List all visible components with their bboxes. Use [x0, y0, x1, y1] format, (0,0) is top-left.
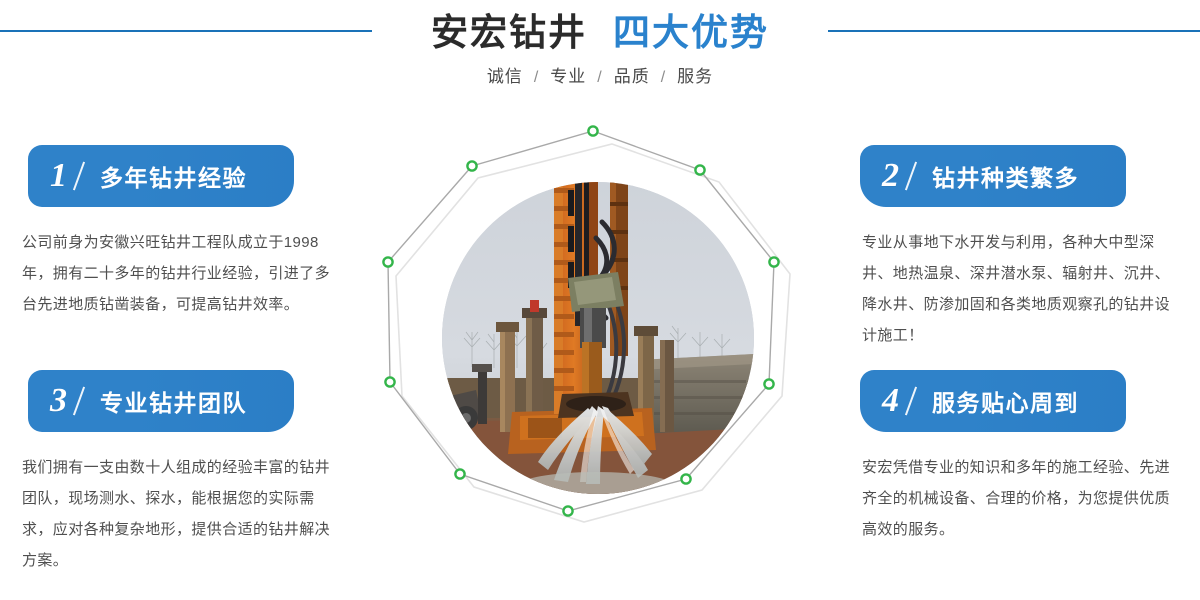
feature-card-3-title: 专业钻井团队 [100, 384, 247, 418]
feature-card-1-badge: 1 多年钻井经验 [28, 145, 294, 207]
feature-card-4-title: 服务贴心周到 [932, 384, 1079, 418]
feature-card-1-title: 多年钻井经验 [100, 159, 247, 193]
feature-card-2-number: 2 [882, 159, 899, 193]
subtitle-separator: / [597, 69, 602, 86]
page-title: 安宏钻井四大优势 [0, 10, 1200, 56]
feature-card-2-body: 专业从事地下水开发与利用，各种大中型深井、地热温泉、深井潜水泵、辐射井、沉井、降… [862, 227, 1182, 351]
page-subtitle: 诚信/专业/品质/服务 [0, 62, 1200, 87]
feature-card-4-body: 安宏凭借专业的知识和多年的施工经验、先进齐全的机械设备、合理的价格，为您提供优质… [862, 452, 1182, 545]
decagon-decoration [370, 110, 830, 590]
feature-card-2-badge: 2 钻井种类繁多 [860, 145, 1126, 207]
vertex-dot [385, 377, 394, 386]
vertex-dot [695, 165, 704, 174]
page-header: 安宏钻井四大优势 诚信/专业/品质/服务 [0, 0, 1200, 110]
decagon-outline-front [388, 131, 774, 511]
subtitle-item-2: 专业 [550, 67, 586, 86]
title-main: 安宏钻井 [431, 12, 587, 53]
subtitle-item-1: 诚信 [487, 67, 523, 86]
feature-card-1-body: 公司前身为安徽兴旺钻井工程队成立于1998年，拥有二十多年的钻井行业经验，引进了… [22, 227, 334, 320]
subtitle-item-3: 品质 [614, 67, 650, 86]
decagon-outline-back [396, 144, 790, 522]
feature-card-3-badge: 3 专业钻井团队 [28, 370, 294, 432]
vertex-dot [383, 257, 392, 266]
subtitle-separator: / [661, 69, 666, 86]
feature-card-3-number: 3 [50, 384, 67, 418]
feature-card-3[interactable]: 3 专业钻井团队 我们拥有一支由数十人组成的经验丰富的钻井团队，现场测水、探水，… [0, 370, 350, 576]
vertex-dot [467, 161, 476, 170]
feature-card-1-number: 1 [50, 159, 67, 193]
feature-card-4-badge: 4 服务贴心周到 [860, 370, 1126, 432]
vertex-dot [588, 126, 597, 135]
vertex-dot [769, 257, 778, 266]
feature-card-1[interactable]: 1 多年钻井经验 公司前身为安徽兴旺钻井工程队成立于1998年，拥有二十多年的钻… [0, 145, 350, 320]
vertex-dot [681, 474, 690, 483]
vertex-dot [764, 379, 773, 388]
feature-card-4-number: 4 [882, 384, 899, 418]
subtitle-separator: / [534, 69, 539, 86]
page-root: 安宏钻井四大优势 诚信/专业/品质/服务 1 多年钻井经验 公司前身为安徽兴旺钻… [0, 0, 1200, 600]
decagon-vertex-dots [383, 126, 778, 515]
feature-card-4[interactable]: 4 服务贴心周到 安宏凭借专业的知识和多年的施工经验、先进齐全的机械设备、合理的… [850, 370, 1200, 545]
feature-card-2[interactable]: 2 钻井种类繁多 专业从事地下水开发与利用，各种大中型深井、地热温泉、深井潜水泵… [850, 145, 1200, 351]
subtitle-item-4: 服务 [677, 67, 713, 86]
feature-card-3-body: 我们拥有一支由数十人组成的经验丰富的钻井团队，现场测水、探水，能根据您的实际需求… [22, 452, 334, 576]
feature-card-2-title: 钻井种类繁多 [932, 159, 1079, 193]
center-graphic [370, 110, 830, 590]
title-accent: 四大优势 [613, 12, 769, 53]
vertex-dot [455, 469, 464, 478]
vertex-dot [563, 506, 572, 515]
